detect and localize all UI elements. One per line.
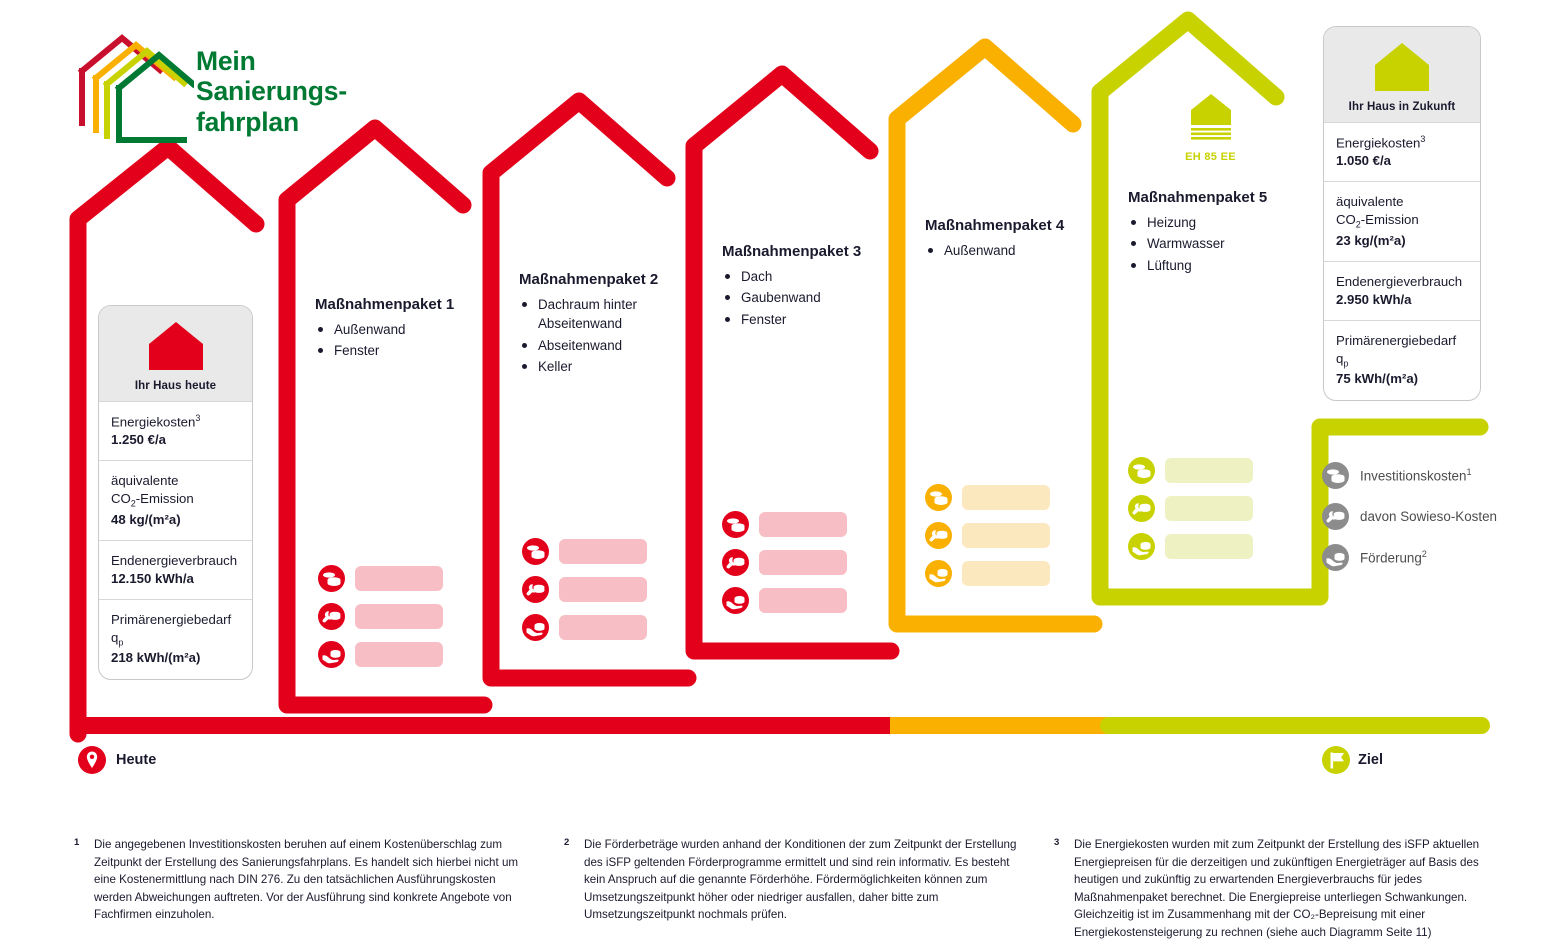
timeline-bar [78, 717, 1490, 734]
info-value: 48 kg/(m²a) [111, 511, 240, 529]
eh-standard-badge: EH 85 EE [1163, 93, 1258, 163]
wrench-coins-icon [1322, 503, 1349, 530]
info-row-energiekosten: Energiekosten3 1.050 €/a [1324, 122, 1480, 181]
package-title: Maßnahmenpaket 2 [519, 271, 658, 288]
package-block-4: Maßnahmenpaket 4 Außenwand [925, 217, 1064, 262]
cost-bars-package-2 [522, 538, 647, 652]
cost-row-sowieso-kosten [1128, 495, 1253, 522]
info-row-endenergie: Endenergieverbrauch 12.150 kWh/a [99, 540, 252, 599]
info-card-future-label: Ihr Haus in Zukunft [1334, 101, 1470, 113]
list-item: Keller [519, 357, 658, 376]
package-title: Maßnahmenpaket 1 [315, 296, 454, 313]
info-row-co2: äquivalente CO2-Emission 48 kg/(m²a) [99, 460, 252, 540]
cost-legend: Investitionskosten1 davon Sowieso-Kosten… [1322, 462, 1497, 585]
house-icon-green [1373, 41, 1431, 93]
cost-row-investitionskosten [522, 538, 647, 565]
info-label-co2: CO [111, 491, 131, 506]
footnote-ref: 3 [195, 413, 200, 423]
cost-row-investitionskosten [318, 565, 443, 592]
cost-value-placeholder [559, 539, 647, 564]
list-item: Heizung [1128, 213, 1267, 232]
cost-row-investitionskosten [722, 511, 847, 538]
cost-value-placeholder [355, 566, 443, 591]
info-label-emission: -Emission [136, 491, 194, 506]
footnote-text: Die Energiekosten wurden mit zum Zeitpun… [1074, 836, 1514, 942]
logo-title: Mein Sanierungs- fahrplan [196, 46, 347, 137]
cost-bars-package-4 [925, 484, 1050, 598]
footnote-text: Die angegebenen Investitionskosten beruh… [94, 836, 534, 942]
info-row-primaerenergie: Primärenergiebedarf qp 218 kWh/(m²a) [99, 599, 252, 679]
info-label: Primärenergiebedarf q [111, 612, 231, 645]
cost-row-foerderung [522, 614, 647, 641]
timeline-marker-end: Ziel [1322, 746, 1383, 774]
hand-coins-icon [722, 587, 749, 614]
info-label: Endenergieverbrauch [1336, 274, 1462, 289]
eh-standard-label: EH 85 EE [1163, 151, 1258, 163]
cost-bars-package-5 [1128, 457, 1253, 571]
location-pin-icon [78, 746, 106, 774]
cost-value-placeholder [1165, 496, 1253, 521]
cost-row-sowieso-kosten [522, 576, 647, 603]
cost-value-placeholder [962, 485, 1050, 510]
flag-icon [1322, 746, 1350, 774]
cost-row-foerderung [1128, 533, 1253, 560]
info-card-future: Ihr Haus in Zukunft Energiekosten3 1.050… [1323, 26, 1481, 401]
footnote-3: 3 Die Energiekosten wurden mit zum Zeitp… [1054, 836, 1514, 942]
cost-row-foerderung [925, 560, 1050, 587]
hand-coins-icon [318, 641, 345, 668]
footnote-text: Die Förderbeträge wurden anhand der Kond… [584, 836, 1024, 942]
cost-row-investitionskosten [925, 484, 1050, 511]
timeline-marker-label: Ziel [1358, 752, 1383, 768]
cost-value-placeholder [1165, 534, 1253, 559]
wrench-coins-icon [318, 603, 345, 630]
legend-label: Investitionskosten1 [1360, 467, 1472, 483]
coin-stack-icon [1322, 462, 1349, 489]
package-block-3: Maßnahmenpaket 3 Dach Gaubenwand Fenster [722, 243, 861, 331]
legend-item-investitionskosten: Investitionskosten1 [1322, 462, 1497, 489]
footnote-number: 3 [1054, 836, 1074, 942]
package-title: Maßnahmenpaket 4 [925, 217, 1064, 234]
cost-row-sowieso-kosten [318, 603, 443, 630]
hand-coins-icon [1128, 533, 1155, 560]
info-label: Primärenergiebedarf q [1336, 333, 1456, 366]
info-label: Energiekosten [1336, 135, 1420, 150]
info-label: äquivalente [111, 473, 178, 488]
info-value: 23 kg/(m²a) [1336, 232, 1468, 250]
cost-value-placeholder [1165, 458, 1253, 483]
logo: Mein Sanierungs- fahrplan [74, 18, 374, 143]
footnote-number: 2 [564, 836, 584, 942]
list-item: Lüftung [1128, 256, 1267, 275]
cost-value-placeholder [559, 577, 647, 602]
list-item: Fenster [315, 341, 454, 360]
info-label-co2: CO [1336, 212, 1356, 227]
package-title: Maßnahmenpaket 5 [1128, 189, 1267, 206]
list-item: Außenwand [315, 320, 454, 339]
list-item: Warmwasser [1128, 234, 1267, 253]
legend-label: davon Sowieso-Kosten [1360, 509, 1497, 524]
coin-stack-icon [722, 511, 749, 538]
footnotes: 1 Die angegebenen Investitionskosten ber… [74, 836, 1514, 942]
cost-row-sowieso-kosten [925, 522, 1050, 549]
qp-subscript: p [118, 637, 123, 647]
info-value: 12.150 kWh/a [111, 570, 240, 588]
legend-item-foerderung: Förderung2 [1322, 544, 1497, 571]
wrench-coins-icon [722, 549, 749, 576]
cost-row-foerderung [318, 641, 443, 668]
info-card-future-header: Ihr Haus in Zukunft [1324, 27, 1480, 122]
package-block-5: Maßnahmenpaket 5 Heizung Warmwasser Lüft… [1128, 189, 1267, 277]
cost-row-investitionskosten [1128, 457, 1253, 484]
wrench-coins-icon [925, 522, 952, 549]
list-item: Dachraum hinter Abseitenwand [519, 295, 639, 334]
legend-label: Förderung2 [1360, 549, 1427, 565]
info-value: 218 kWh/(m²a) [111, 649, 240, 667]
footnote-number: 1 [74, 836, 94, 942]
coin-stack-icon [1128, 457, 1155, 484]
info-row-primaerenergie: Primärenergiebedarf qp 75 kWh/(m²a) [1324, 320, 1480, 400]
coin-stack-icon [522, 538, 549, 565]
info-value: 1.050 €/a [1336, 152, 1468, 170]
cost-row-sowieso-kosten [722, 549, 847, 576]
footnote-1: 1 Die angegebenen Investitionskosten ber… [74, 836, 534, 942]
list-item: Außenwand [925, 241, 1064, 260]
hand-coins-icon [925, 560, 952, 587]
cost-row-foerderung [722, 587, 847, 614]
footnote-ref: 3 [1420, 134, 1425, 144]
info-label-emission: -Emission [1361, 212, 1419, 227]
cost-value-placeholder [962, 523, 1050, 548]
timeline-marker-start: Heute [78, 746, 156, 774]
legend-item-sowieso-kosten: davon Sowieso-Kosten [1322, 503, 1497, 530]
info-row-energiekosten: Energiekosten3 1.250 €/a [99, 401, 252, 460]
info-value: 2.950 kWh/a [1336, 291, 1468, 309]
cost-bars-package-1 [318, 565, 443, 679]
list-item: Gaubenwand [722, 288, 861, 307]
info-label: Energiekosten [111, 414, 195, 429]
info-card-today-label: Ihr Haus heute [109, 380, 242, 392]
package-measure-list: Außenwand [925, 241, 1064, 260]
cost-value-placeholder [355, 604, 443, 629]
coin-stack-icon [925, 484, 952, 511]
package-measure-list: Dach Gaubenwand Fenster [722, 267, 861, 329]
efficiency-house-icon [1188, 93, 1234, 143]
info-label: äquivalente [1336, 194, 1403, 209]
nested-houses-logo-icon [74, 18, 194, 143]
cost-value-placeholder [355, 642, 443, 667]
hand-coins-icon [1322, 544, 1349, 571]
info-value: 1.250 €/a [111, 431, 240, 449]
wrench-coins-icon [522, 576, 549, 603]
wrench-coins-icon [1128, 495, 1155, 522]
package-title: Maßnahmenpaket 3 [722, 243, 861, 260]
info-card-today-header: Ihr Haus heute [99, 306, 252, 401]
hand-coins-icon [522, 614, 549, 641]
cost-value-placeholder [559, 615, 647, 640]
qp-subscript: p [1343, 358, 1348, 368]
cost-value-placeholder [962, 561, 1050, 586]
cost-value-placeholder [759, 512, 847, 537]
cost-value-placeholder [759, 588, 847, 613]
info-card-today: Ihr Haus heute Energiekosten3 1.250 €/a … [98, 305, 253, 680]
package-measure-list: Heizung Warmwasser Lüftung [1128, 213, 1267, 275]
cost-value-placeholder [759, 550, 847, 575]
footnote-2: 2 Die Förderbeträge wurden anhand der Ko… [564, 836, 1024, 942]
list-item: Dach [722, 267, 861, 286]
info-row-co2: äquivalente CO2-Emission 23 kg/(m²a) [1324, 181, 1480, 261]
coin-stack-icon [318, 565, 345, 592]
house-icon-red [147, 320, 205, 372]
package-block-1: Maßnahmenpaket 1 Außenwand Fenster [315, 296, 454, 363]
package-measure-list: Dachraum hinter Abseitenwand Abseitenwan… [519, 295, 658, 377]
list-item: Fenster [722, 310, 861, 329]
info-label: Endenergieverbrauch [111, 553, 237, 568]
info-value: 75 kWh/(m²a) [1336, 370, 1468, 388]
package-measure-list: Außenwand Fenster [315, 320, 454, 361]
package-block-2: Maßnahmenpaket 2 Dachraum hinter Abseite… [519, 271, 658, 379]
info-row-endenergie: Endenergieverbrauch 2.950 kWh/a [1324, 261, 1480, 320]
cost-bars-package-3 [722, 511, 847, 625]
list-item: Abseitenwand [519, 336, 658, 355]
timeline-marker-label: Heute [116, 752, 156, 768]
